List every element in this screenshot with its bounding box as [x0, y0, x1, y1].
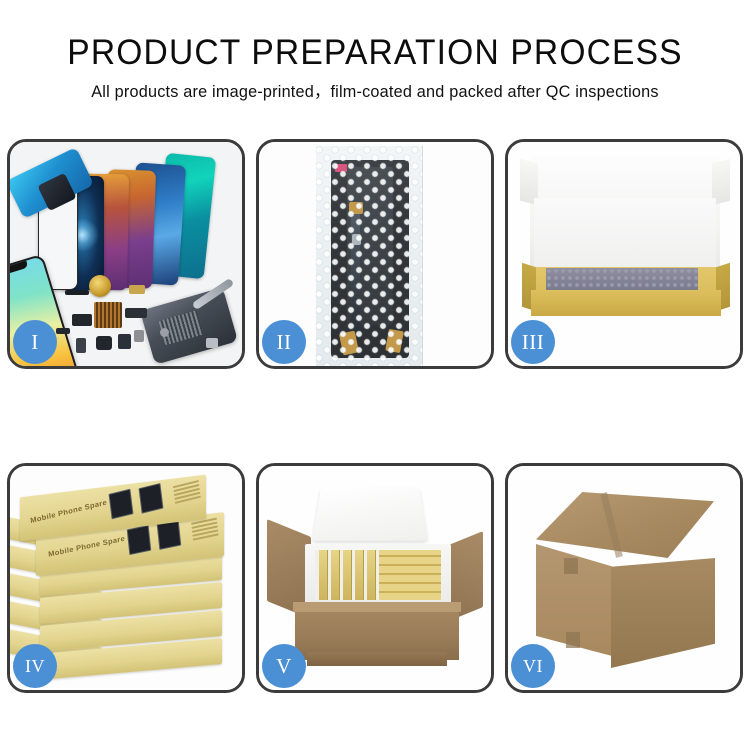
page-subtitle: All products are image-printed，film-coat…	[6, 82, 745, 102]
step-badge-3: III	[511, 320, 555, 364]
ic-chip-grid	[94, 302, 122, 328]
small-part	[56, 328, 70, 334]
process-step-grid: I II	[7, 139, 743, 693]
wireless-charging-coil	[89, 275, 111, 297]
phone-notch	[10, 261, 28, 275]
phone-back-housing	[140, 287, 238, 365]
small-part	[96, 336, 112, 350]
carton-flap-mark	[566, 632, 580, 648]
screen-photo	[157, 520, 182, 550]
carton-flap-mark	[564, 558, 578, 574]
bag-seam	[315, 146, 423, 366]
small-part	[206, 338, 218, 348]
small-part	[129, 285, 145, 294]
process-step-1: I	[7, 139, 245, 369]
step-badge-5: V	[262, 644, 306, 688]
process-step-5: V	[256, 463, 494, 693]
step-badge-4: IV	[13, 644, 57, 688]
small-part	[125, 308, 147, 318]
small-part	[72, 314, 92, 326]
yellow-box-edge	[367, 550, 376, 600]
yellow-box-edge	[355, 550, 364, 600]
yellow-box-edge	[331, 550, 340, 600]
box-tray-front	[531, 290, 721, 316]
screen-photo	[108, 489, 133, 520]
small-part	[65, 290, 89, 295]
yellow-box-edge	[343, 550, 352, 600]
page-title: PRODUCT PREPARATION PROCESS	[15, 33, 735, 73]
bubble-wrap-bag	[315, 146, 423, 366]
small-part	[118, 334, 131, 349]
screen-photo	[138, 483, 163, 514]
product-preparation-page: PRODUCT PREPARATION PROCESS All products…	[0, 0, 750, 750]
small-part	[160, 328, 169, 337]
yellow-boxes-flat	[379, 550, 441, 600]
spec-lines	[173, 480, 201, 506]
process-step-3: III	[505, 139, 743, 369]
carton-top-face	[536, 492, 714, 558]
step-badge-6: VI	[511, 644, 555, 688]
page-header: PRODUCT PREPARATION PROCESS All products…	[0, 0, 750, 102]
small-part	[76, 338, 86, 353]
carton-right-face	[611, 558, 715, 668]
yellow-box-edge	[319, 550, 328, 600]
small-part	[134, 330, 144, 342]
process-step-4: Mobile Phone Spare Parts Mobile Phone Sp…	[7, 463, 245, 693]
white-foam-sheet	[534, 198, 716, 276]
screen-photo	[127, 525, 152, 555]
spec-lines	[191, 518, 219, 543]
process-step-2: II	[256, 139, 494, 369]
step-badge-2: II	[262, 320, 306, 364]
carton-base	[307, 652, 447, 666]
foam-box-lid	[313, 487, 428, 540]
process-step-6: VI	[505, 463, 743, 693]
step-badge-1: I	[13, 320, 57, 364]
foam-box-interior	[315, 550, 441, 600]
